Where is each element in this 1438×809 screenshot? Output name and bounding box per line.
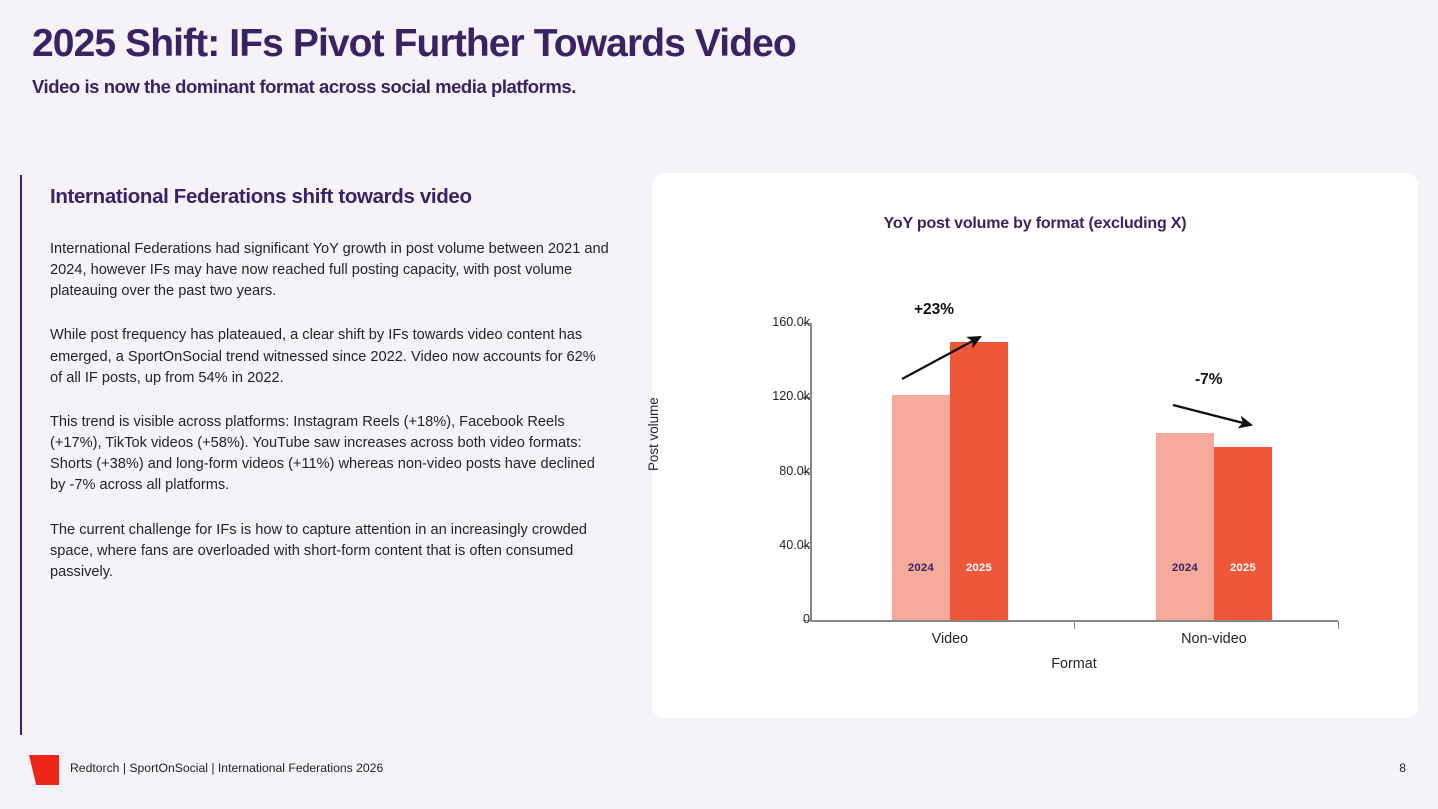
slide-footer: Redtorch | SportOnSocial | International… [0,747,1438,809]
y-axis-title: Post volume [646,397,661,471]
annotation-arrow-down [810,173,1438,718]
page-number: 8 [1399,761,1406,775]
page-title: 2025 Shift: IFs Pivot Further Towards Vi… [32,22,1232,66]
panel-paragraph: The current challenge for IFs is how to … [50,520,610,583]
panel-paragraph: This trend is visible across platforms: … [50,412,610,497]
chart-card: YoY post volume by format (excluding X) … [652,173,1418,718]
y-axis-tick-label: 40.0k [726,538,810,552]
slide-header: 2025 Shift: IFs Pivot Further Towards Vi… [32,22,1232,98]
footer-text: Redtorch | SportOnSocial | International… [70,761,383,775]
commentary-panel: International Federations shift towards … [20,175,620,735]
panel-heading: International Federations shift towards … [50,185,620,209]
y-axis-tick-label: 120.0k [726,389,810,403]
bar-chart-plot: Post volume Format 040.0k80.0k120.0k160.… [652,173,1418,718]
panel-paragraph: International Federations had significan… [50,239,610,302]
y-axis-tick-label: 80.0k [726,464,810,478]
y-axis-tick-label: 160.0k [726,315,810,329]
panel-paragraph: While post frequency has plateaued, a cl… [50,325,610,388]
redtorch-logo-icon [29,755,59,785]
annotation-label: -7% [1195,371,1223,389]
y-axis-tick-label: 0 [726,612,810,626]
page-subtitle: Video is now the dominant format across … [32,76,1232,98]
